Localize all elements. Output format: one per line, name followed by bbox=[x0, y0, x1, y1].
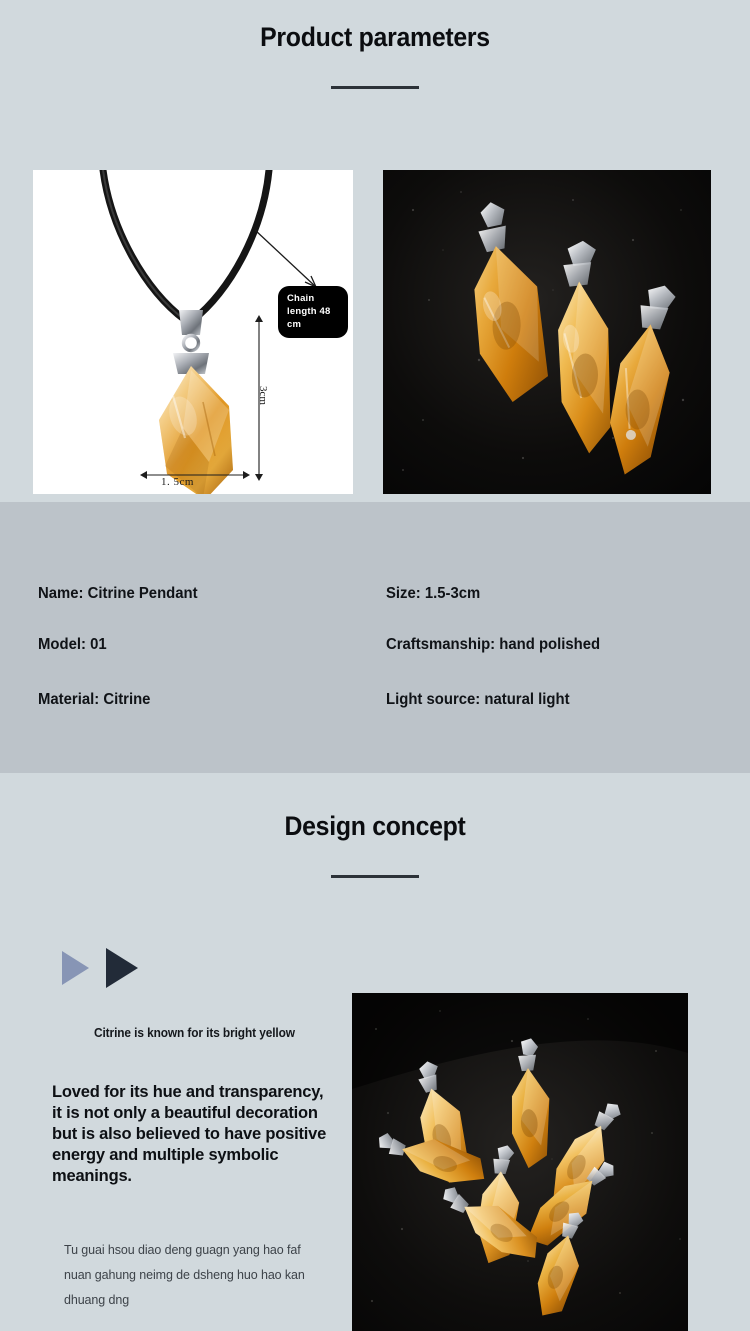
eight-pendants-illustration bbox=[352, 993, 688, 1331]
play-triangle-light-icon bbox=[62, 951, 89, 985]
three-pendants-photo[interactable] bbox=[383, 170, 711, 494]
spec-material: Material: Citrine bbox=[38, 691, 150, 709]
concept-sub-line: dhuang dng bbox=[64, 1288, 326, 1313]
eight-pendants-photo[interactable] bbox=[352, 993, 688, 1331]
spec-light-source: Light source: natural light bbox=[386, 691, 570, 709]
specifications-band: Name: Citrine Pendant Model: 01 Material… bbox=[0, 502, 750, 773]
spec-name: Name: Citrine Pendant bbox=[38, 585, 198, 603]
concept-sub-text: Tu guai hsou diao deng guagn yang hao fa… bbox=[64, 1238, 326, 1313]
concept-sub-line: nuan gahung neimg de dsheng huo hao kan bbox=[64, 1263, 326, 1288]
page-title-design-concept: Design concept bbox=[30, 811, 720, 842]
concept-kicker-text: Citrine is known for its bright yellow bbox=[94, 1026, 295, 1040]
spec-craftsmanship: Craftsmanship: hand polished bbox=[386, 636, 600, 654]
necklace-measurement-photo[interactable]: Chain length 48 cm 3cm 1. 5cm bbox=[33, 170, 353, 494]
spec-model: Model: 01 bbox=[38, 636, 107, 654]
page-title-product-parameters: Product parameters bbox=[30, 22, 720, 53]
title-divider-parameters bbox=[331, 86, 419, 89]
title-divider-concept bbox=[331, 875, 419, 878]
width-dimension-label: 1. 5cm bbox=[161, 476, 194, 488]
spec-size: Size: 1.5-3cm bbox=[386, 585, 480, 603]
play-triangle-dark-icon bbox=[106, 948, 138, 988]
three-pendants-illustration bbox=[383, 170, 711, 494]
concept-body-text: Loved for its hue and transparency, it i… bbox=[52, 1082, 334, 1187]
product-detail-page: Product parameters bbox=[0, 0, 750, 1331]
concept-sub-line: Tu guai hsou diao deng guagn yang hao fa… bbox=[64, 1238, 326, 1263]
chain-length-badge: Chain length 48 cm bbox=[278, 286, 348, 338]
height-dimension-label: 3cm bbox=[257, 386, 269, 405]
